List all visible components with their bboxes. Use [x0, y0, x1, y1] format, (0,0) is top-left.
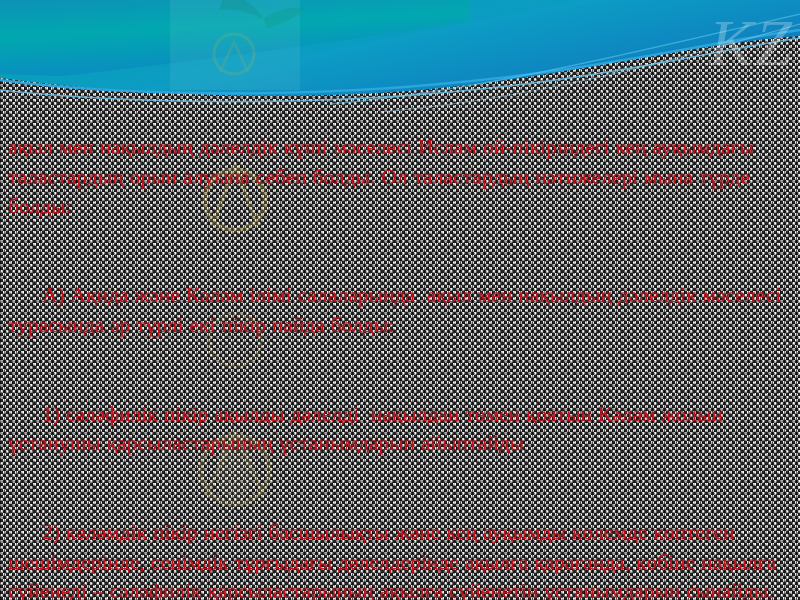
paragraph-2: А) Ақида және Кәләм ілімі салаларында ақ… — [8, 281, 798, 340]
paragraph-4: 2) кәләмдік пікір негізгі басшылықты жән… — [8, 518, 798, 600]
paragraph-1: ақыл мен нақылдың дәлелдік күші мәселесі… — [8, 133, 798, 222]
presentation-slide: KZ ақыл мен нақылдың дәлелдік күші мәсел… — [0, 0, 800, 600]
slide-body-text: ақыл мен нақылдың дәлелдік күші мәселесі… — [8, 74, 798, 600]
paragraph-3: 1) сәләфилік пікір ақылды дәлелді нақылд… — [8, 400, 798, 459]
